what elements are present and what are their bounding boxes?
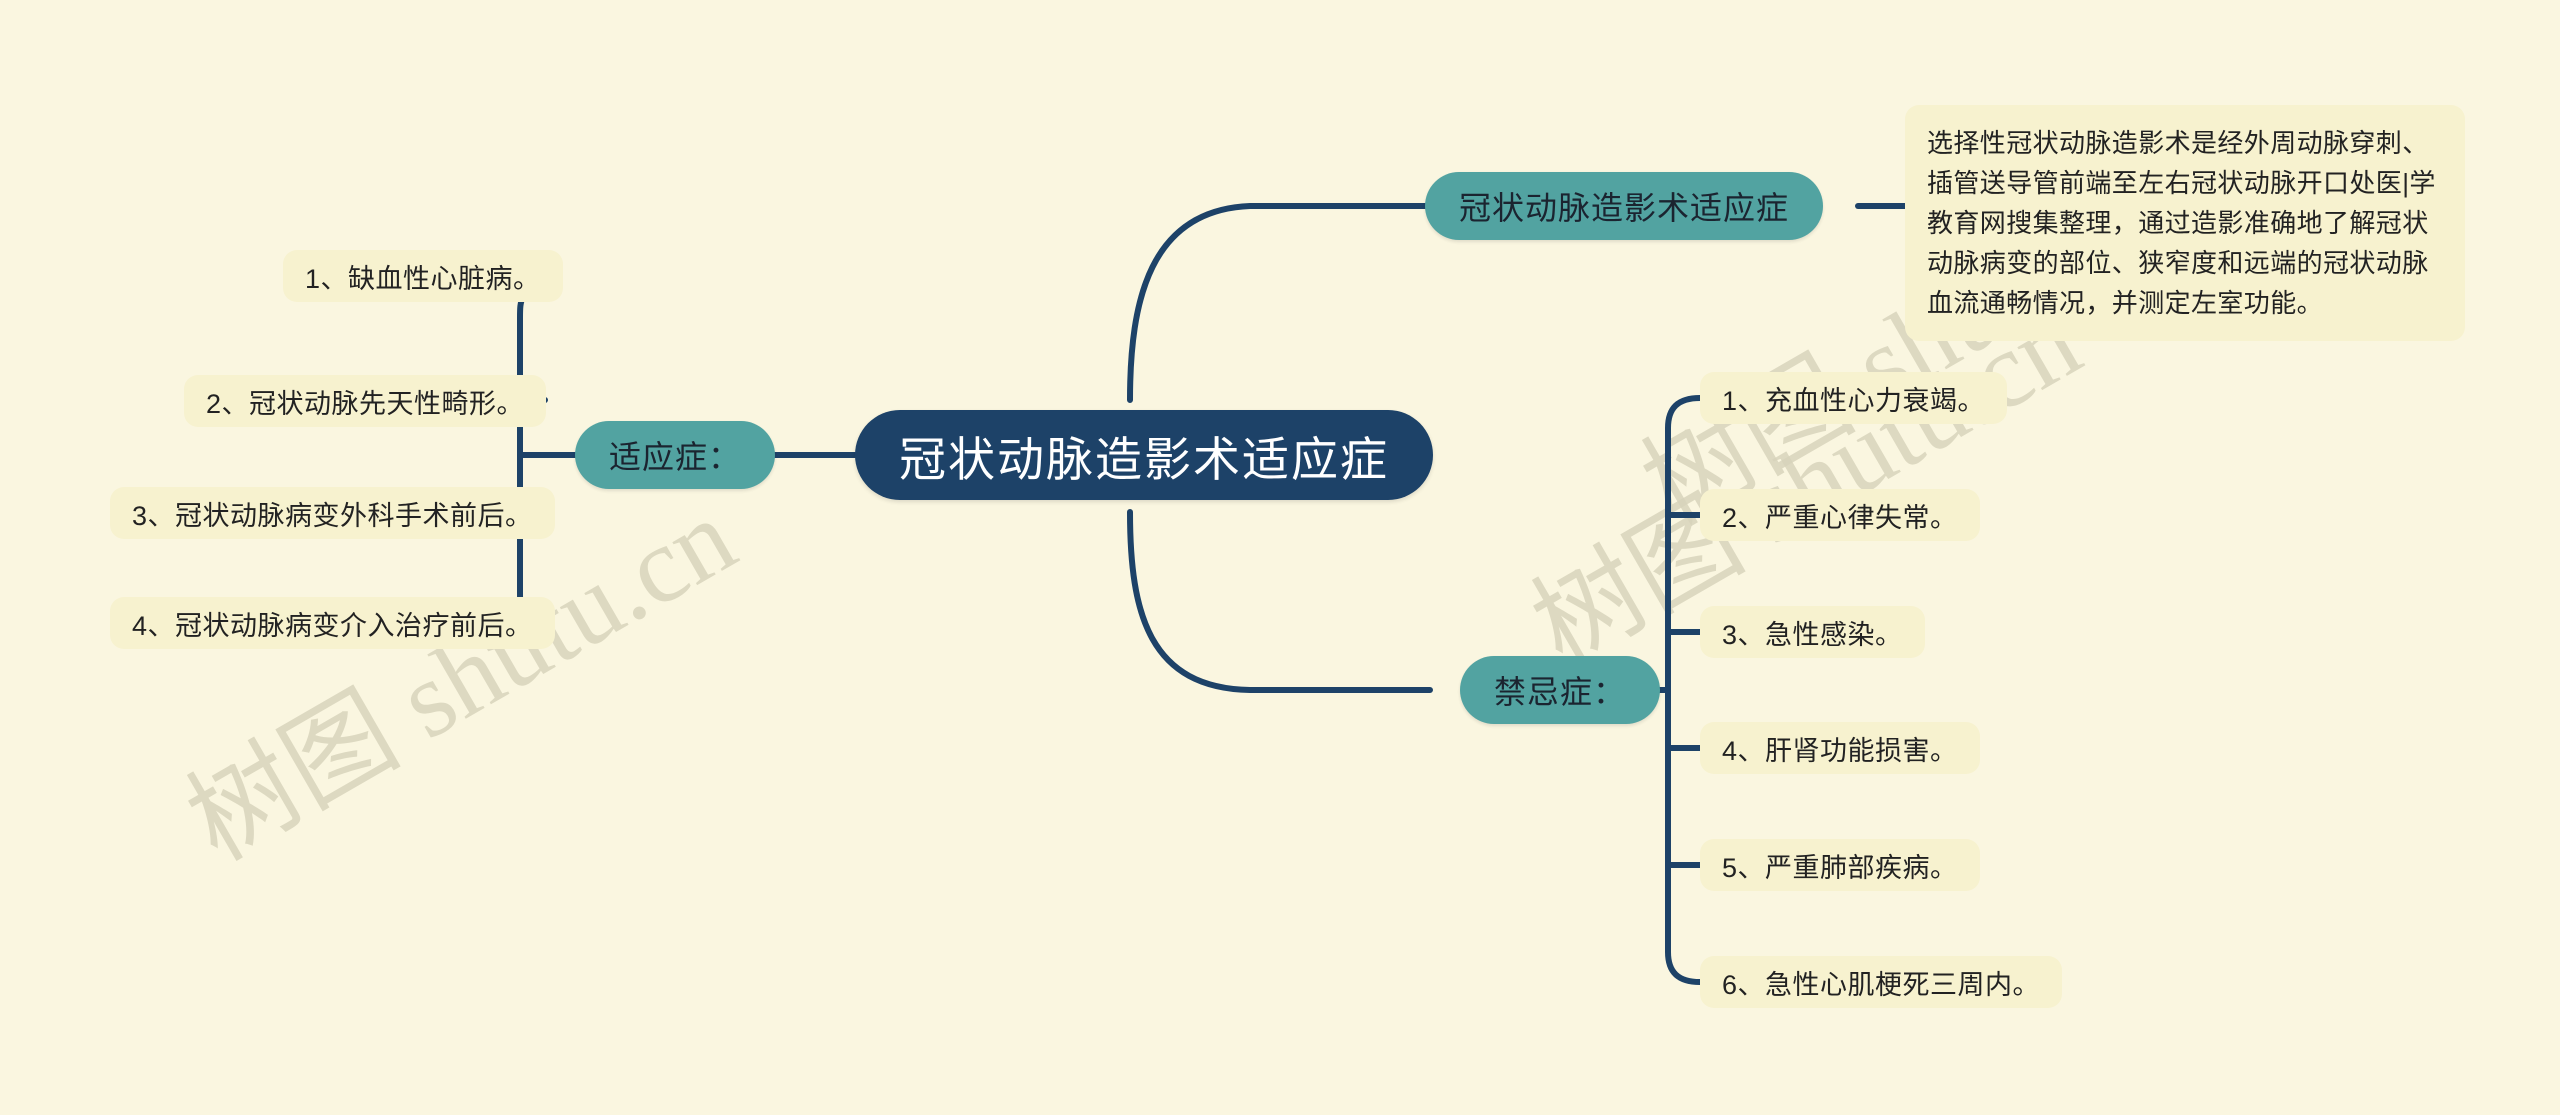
note-node-overview-description-text: 选择性冠状动脉造影术是经外周动脉穿刺、插管送导管前端至左右冠状动脉开口处医|学教… <box>1927 128 2436 318</box>
leaf-node-contraindication-5[interactable]: 5、严重肺部疾病。 <box>1700 839 1980 891</box>
note-node-overview-description[interactable]: 选择性冠状动脉造影术是经外周动脉穿刺、插管送导管前端至左右冠状动脉开口处医|学教… <box>1905 105 2465 341</box>
branch-node-contraindications[interactable]: 禁忌症： <box>1460 656 1660 724</box>
leaf-node-contraindication-2[interactable]: 2、严重心律失常。 <box>1700 489 1980 541</box>
link-contra-bracket <box>1668 398 1700 982</box>
branch-node-contraindications-label: 禁忌症： <box>1494 667 1626 713</box>
leaf-node-contraindication-4[interactable]: 4、肝肾功能损害。 <box>1700 722 1980 774</box>
leaf-node-contraindication-6[interactable]: 6、急性心肌梗死三周内。 <box>1700 956 2062 1008</box>
leaf-node-contraindication-1[interactable]: 1、充血性心力衰竭。 <box>1700 372 2007 424</box>
link-root-to-contraindications <box>1130 512 1430 690</box>
mindmap-canvas: 树图 shutu.cn 树图 shutu.cn 树图 shutu.cn <box>0 0 2560 1115</box>
leaf-node-indication-3-label: 3、冠状动脉病变外科手术前后。 <box>132 494 533 533</box>
leaf-node-contraindication-6-label: 6、急性心肌梗死三周内。 <box>1722 963 2040 1002</box>
link-root-to-overview <box>1130 206 1425 400</box>
branch-node-indications[interactable]: 适应症： <box>575 421 775 489</box>
leaf-node-contraindication-1-label: 1、充血性心力衰竭。 <box>1722 379 1985 418</box>
root-node-label: 冠状动脉造影术适应症 <box>899 421 1389 490</box>
leaf-node-indication-4-label: 4、冠状动脉病变介入治疗前后。 <box>132 604 533 643</box>
branch-node-overview-label: 冠状动脉造影术适应症 <box>1459 183 1789 229</box>
leaf-node-indication-3[interactable]: 3、冠状动脉病变外科手术前后。 <box>110 487 555 539</box>
leaf-node-contraindication-4-label: 4、肝肾功能损害。 <box>1722 729 1958 768</box>
branch-node-indications-label: 适应症： <box>609 432 741 478</box>
leaf-node-contraindication-5-label: 5、严重肺部疾病。 <box>1722 846 1958 885</box>
leaf-node-contraindication-3-label: 3、急性感染。 <box>1722 613 1903 652</box>
leaf-node-indication-1[interactable]: 1、缺血性心脏病。 <box>283 250 563 302</box>
leaf-node-indication-4[interactable]: 4、冠状动脉病变介入治疗前后。 <box>110 597 555 649</box>
leaf-node-indication-1-label: 1、缺血性心脏病。 <box>305 257 541 296</box>
leaf-node-contraindication-3[interactable]: 3、急性感染。 <box>1700 606 1925 658</box>
leaf-node-contraindication-2-label: 2、严重心律失常。 <box>1722 496 1958 535</box>
leaf-node-indication-2-label: 2、冠状动脉先天性畸形。 <box>206 382 524 421</box>
root-node[interactable]: 冠状动脉造影术适应症 <box>855 410 1433 500</box>
branch-node-overview[interactable]: 冠状动脉造影术适应症 <box>1425 172 1823 240</box>
leaf-node-indication-2[interactable]: 2、冠状动脉先天性畸形。 <box>184 375 546 427</box>
